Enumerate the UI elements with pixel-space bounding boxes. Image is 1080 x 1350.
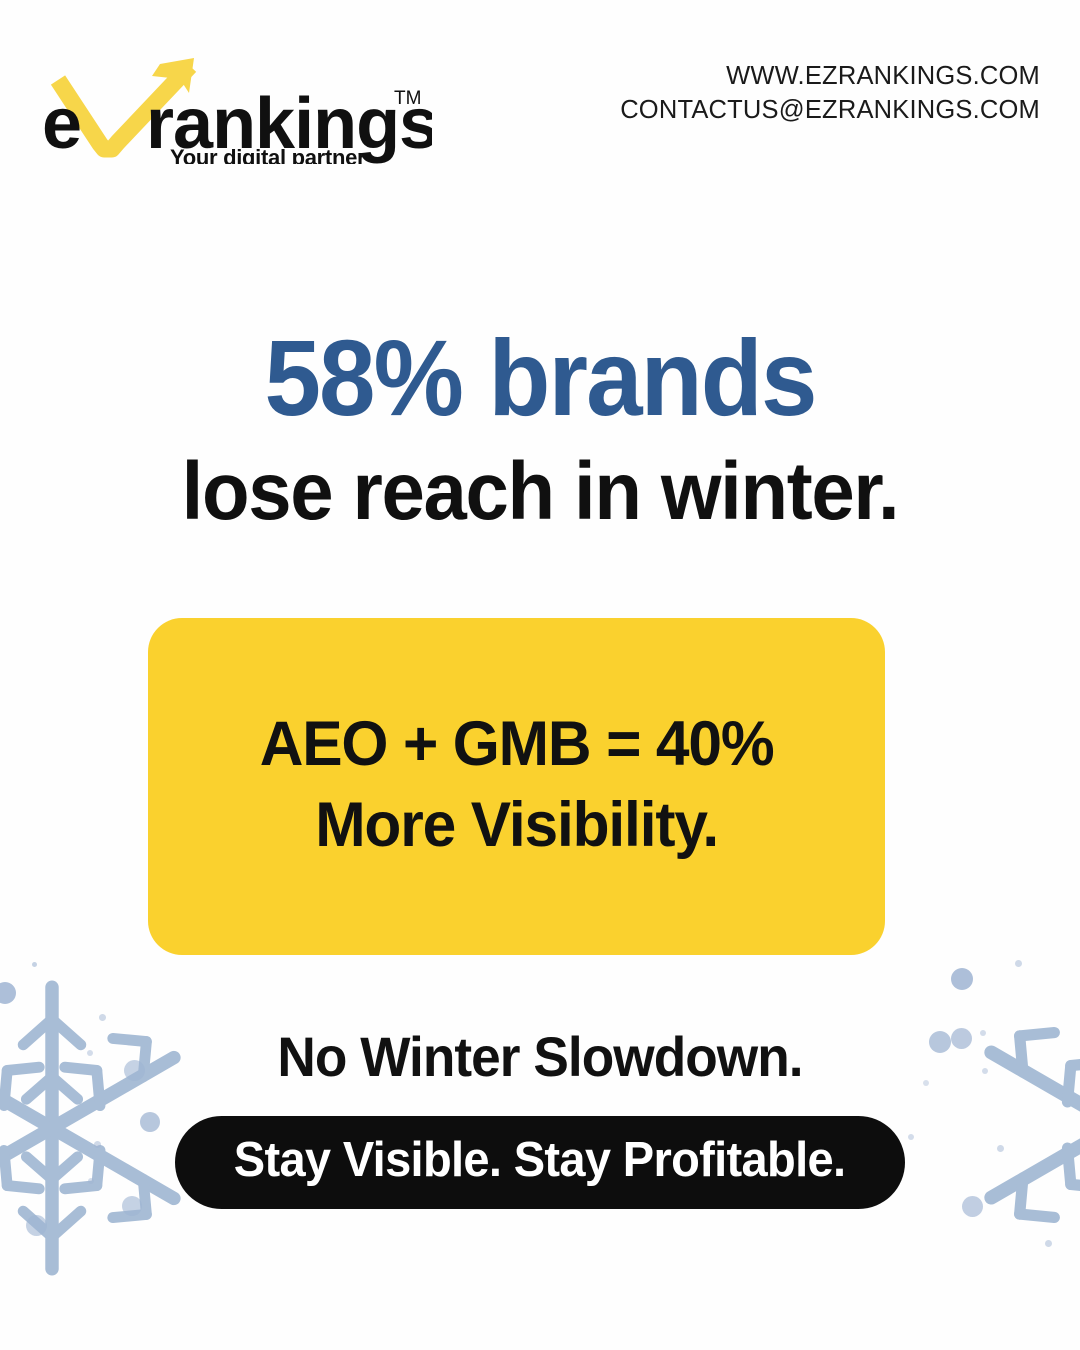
headline-subtext-line: lose reach in winter. <box>27 444 1053 539</box>
callout-benefit-line: More Visibility. <box>260 785 774 866</box>
snow-dot <box>26 1215 47 1236</box>
headline-stat-line: 58% brands <box>32 322 1047 434</box>
cta-button-label: Stay Visible. Stay Profitable. <box>234 1136 846 1185</box>
snow-dot <box>1045 1240 1052 1247</box>
snow-dot <box>1015 960 1022 967</box>
footer-tagline: No Winter Slowdown. <box>27 1026 1053 1088</box>
snow-dot <box>32 962 37 967</box>
highlight-callout-card: AEO + GMB = 40% More Visibility. <box>148 618 885 955</box>
snow-dot <box>0 982 16 1004</box>
headline-block: 58% brands lose reach in winter. <box>0 322 1080 539</box>
poster-header: e rankings TM Your digital partner WWW.E… <box>0 0 1080 180</box>
website-url[interactable]: WWW.EZRANKINGS.COM <box>620 60 1040 94</box>
callout-text-group: AEO + GMB = 40% More Visibility. <box>249 704 784 869</box>
svg-text:TM: TM <box>394 88 421 109</box>
snow-dot <box>99 1014 106 1021</box>
cta-button[interactable]: Stay Visible. Stay Profitable. <box>175 1116 904 1209</box>
contact-info: WWW.EZRANKINGS.COM CONTACTUS@EZRANKINGS.… <box>620 60 1040 127</box>
callout-formula-line: AEO + GMB = 40% <box>260 704 774 785</box>
email-address[interactable]: CONTACTUS@EZRANKINGS.COM <box>620 94 1040 128</box>
svg-text:Your digital partner: Your digital partner <box>170 145 366 164</box>
svg-text:e: e <box>42 84 82 164</box>
poster-canvas: e rankings TM Your digital partner WWW.E… <box>0 0 1080 1350</box>
ezrankings-logo[interactable]: e rankings TM Your digital partner <box>42 52 432 164</box>
footer-block: No Winter Slowdown. Stay Visible. Stay P… <box>0 1026 1080 1209</box>
snow-dot <box>951 968 973 990</box>
